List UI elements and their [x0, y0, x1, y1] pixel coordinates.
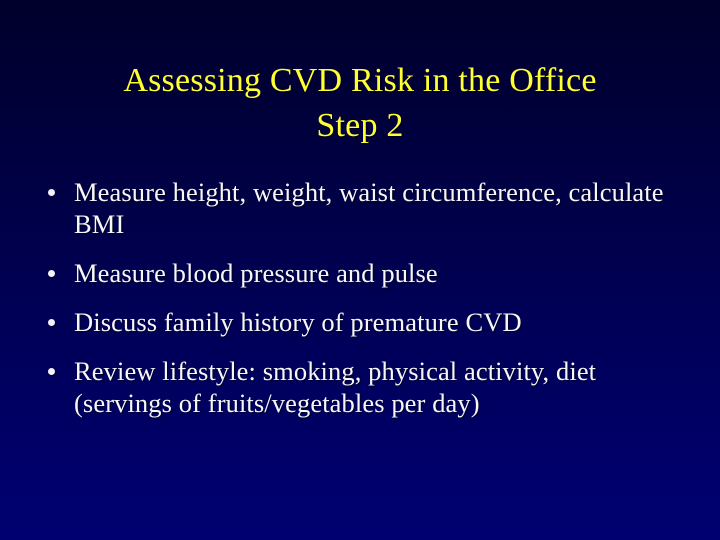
- list-item: Discuss family history of premature CVD: [42, 306, 672, 338]
- bullet-text: Discuss family history of premature CVD: [74, 306, 672, 338]
- slide-title-line-2: Step 2: [0, 103, 720, 148]
- list-item: Measure blood pressure and pulse: [42, 257, 672, 289]
- slide-bullet-list: Measure height, weight, waist circumfere…: [42, 176, 672, 419]
- list-item: Measure height, weight, waist circumfere…: [42, 176, 672, 240]
- bullet-dot-icon: [48, 270, 55, 277]
- bullet-text: Measure height, weight, waist circumfere…: [74, 176, 672, 240]
- bullet-dot-icon: [48, 368, 55, 375]
- bullet-text: Review lifestyle: smoking, physical acti…: [74, 355, 672, 419]
- list-item: Review lifestyle: smoking, physical acti…: [42, 355, 672, 419]
- bullet-dot-icon: [48, 319, 55, 326]
- bullet-text: Measure blood pressure and pulse: [74, 257, 672, 289]
- slide-title-line-1: Assessing CVD Risk in the Office: [0, 58, 720, 103]
- bullet-dot-icon: [48, 189, 55, 196]
- slide-title: Assessing CVD Risk in the Office Step 2: [0, 58, 720, 148]
- presentation-slide: Assessing CVD Risk in the Office Step 2 …: [0, 0, 720, 540]
